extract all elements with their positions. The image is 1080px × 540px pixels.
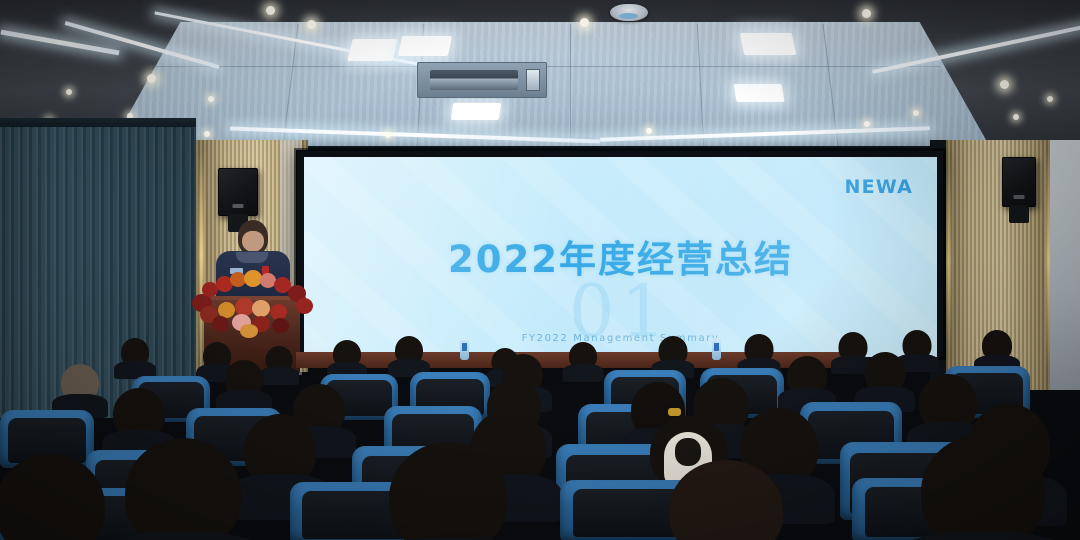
- wall-speaker-left: [218, 168, 258, 216]
- person-head: [125, 438, 241, 540]
- spotlight: [646, 128, 652, 134]
- person-shoulders: [99, 532, 267, 540]
- person-head: [669, 460, 783, 540]
- water-bottle: [712, 338, 721, 360]
- wall-speaker-right: [1002, 157, 1036, 207]
- ac-vent-blade: [430, 70, 518, 90]
- slide-title: 2022年度经营总结: [304, 229, 937, 283]
- spotlight: [266, 6, 275, 15]
- hair-clip: [668, 408, 681, 416]
- person-head: [0, 454, 105, 540]
- audience-member: [566, 342, 600, 378]
- audience-member: [262, 346, 296, 380]
- person-head: [389, 442, 507, 540]
- spotlight: [862, 9, 871, 18]
- audience-member: [330, 340, 364, 376]
- flower: [252, 300, 270, 317]
- conference-hall-screenshot: NEWA 01 2022年度经营总结 FY2022 Management Sum…: [0, 0, 1080, 540]
- spotlight: [385, 132, 391, 138]
- spotlight: [864, 121, 870, 127]
- presenter-collar: [236, 252, 268, 263]
- ceiling-air-conditioner: [417, 62, 547, 98]
- projection-screen-frame: NEWA 01 2022年度经营总结 FY2022 Management Sum…: [296, 150, 944, 358]
- spotlight: [913, 110, 919, 116]
- curtain-rail: [0, 118, 196, 127]
- presenter-head: [238, 220, 268, 255]
- smoke-detector-icon: [610, 4, 648, 21]
- audience-member: [742, 334, 776, 372]
- ceiling-panel-light: [347, 39, 397, 61]
- flower: [296, 298, 313, 314]
- water-bottle: [460, 338, 469, 360]
- spotlight: [1000, 80, 1009, 89]
- spotlight: [1047, 96, 1053, 102]
- speaker-mount: [1009, 205, 1029, 223]
- person-shoulders: [563, 364, 604, 382]
- spotlight: [1013, 114, 1019, 120]
- audience-member: [664, 460, 788, 540]
- audience-area: [0, 330, 1080, 540]
- spotlight: [208, 96, 214, 102]
- ceiling-panel-light: [451, 103, 501, 120]
- speaker-logo: [1014, 195, 1025, 199]
- audience-member: [392, 336, 426, 372]
- ceiling-panel-light: [733, 84, 784, 102]
- audience-member: [58, 364, 102, 414]
- audience-member: [118, 338, 152, 376]
- audience-member: [222, 360, 266, 410]
- spotlight: [204, 131, 210, 137]
- audience-member: [980, 330, 1014, 370]
- audience-member: [0, 454, 110, 540]
- speaker-logo: [233, 204, 244, 208]
- spotlight: [580, 18, 589, 27]
- presenter-face: [242, 231, 264, 252]
- audience-member: [120, 438, 246, 540]
- spotlight: [307, 20, 316, 29]
- person-head: [921, 434, 1045, 540]
- spotlight: [66, 89, 72, 95]
- audience-member: [656, 336, 690, 374]
- ceiling-panel-light: [740, 33, 797, 55]
- projection-screen: NEWA 01 2022年度经营总结 FY2022 Management Sum…: [304, 157, 937, 357]
- ceiling-panel-light: [398, 36, 452, 56]
- person-shoulders: [893, 532, 1073, 540]
- flower-arrangement: [188, 268, 316, 332]
- newa-logo: NEWA: [845, 176, 914, 198]
- audience-member: [916, 434, 1050, 540]
- audience-member: [862, 352, 908, 408]
- ceiling-seam: [570, 24, 571, 146]
- ac-vent-side-grille: [526, 69, 540, 91]
- audience-member: [384, 442, 512, 540]
- spotlight: [147, 74, 156, 83]
